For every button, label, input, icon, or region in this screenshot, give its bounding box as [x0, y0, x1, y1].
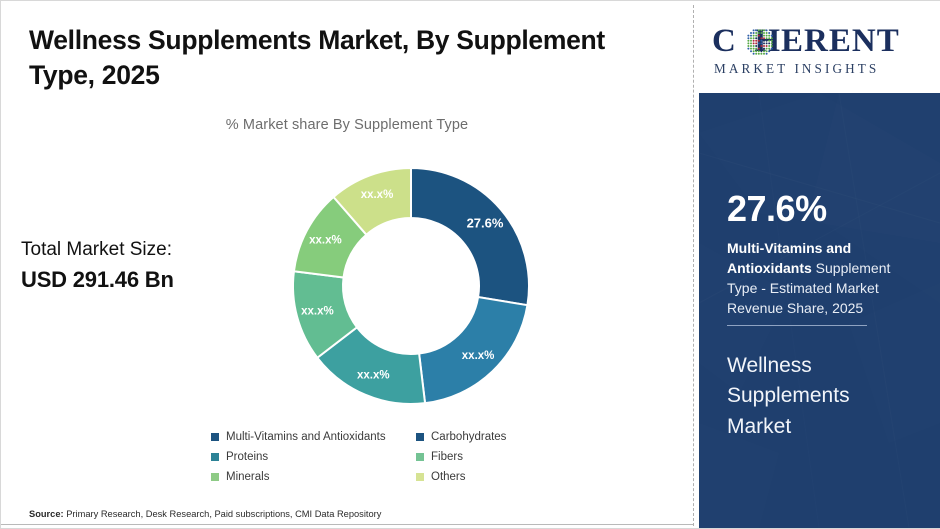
donut-slice-label: xx.x% — [309, 234, 342, 246]
source-label: Source: — [29, 509, 64, 519]
donut-slice-label: xx.x% — [357, 369, 390, 381]
highlight-description: Multi-Vitamins and Antioxidants Suppleme… — [727, 239, 923, 319]
legend-label: Multi-Vitamins and Antioxidants — [226, 431, 386, 443]
globe-dots-icon — [745, 27, 775, 57]
donut-slice-label: xx.x% — [462, 350, 495, 362]
logo-tagline: MARKET INSIGHTS — [714, 61, 879, 77]
source-divider — [1, 524, 693, 525]
legend-item[interactable]: Minerals — [211, 471, 416, 483]
highlight-bold-1: Multi-Vitamins and — [727, 240, 851, 256]
highlight-percent: 27.6% — [727, 191, 923, 227]
highlight-divider — [727, 325, 867, 326]
donut-slice-label: 27.6% — [467, 216, 504, 231]
logo: CoHERENT MARKET INSIGHTS — [698, 1, 940, 93]
total-market-size-label: Total Market Size: — [21, 236, 251, 264]
chart-legend: Multi-Vitamins and AntioxidantsCarbohydr… — [211, 431, 531, 483]
donut-slices — [293, 168, 529, 404]
donut-chart-svg: 27.6%xx.x%xx.x%xx.x%xx.x%xx.x% — [289, 164, 533, 408]
legend-swatch-icon — [211, 433, 219, 441]
total-market-size-value: USD 291.46 Bn — [21, 264, 251, 296]
donut-slice — [411, 168, 529, 305]
total-market-size-block: Total Market Size: USD 291.46 Bn — [21, 236, 251, 295]
legend-item[interactable]: Carbohydrates — [416, 431, 531, 443]
market-name: Wellness Supplements Market — [727, 351, 917, 442]
legend-item[interactable]: Proteins — [211, 451, 416, 463]
logo-wordmark: CoHERENT — [712, 23, 900, 60]
brand-panel: CoHERENT MARKET INSIGHTS 27.6% Multi-Vit… — [698, 1, 940, 528]
chart-panel: Wellness Supplements Market, By Suppleme… — [1, 1, 693, 528]
panel-divider — [693, 5, 694, 526]
legend-swatch-icon — [416, 433, 424, 441]
legend-item[interactable]: Fibers — [416, 451, 531, 463]
legend-label: Fibers — [431, 451, 463, 463]
legend-item[interactable]: Others — [416, 471, 531, 483]
infographic-slide: Wellness Supplements Market, By Suppleme… — [0, 0, 940, 529]
logo-word-before: C — [712, 23, 737, 59]
highlight-panel: 27.6% Multi-Vitamins and Antioxidants Su… — [699, 93, 940, 528]
donut-slice-label: xx.x% — [301, 305, 334, 317]
highlight-bold-2: Antioxidants — [727, 260, 812, 276]
source-text: Primary Research, Desk Research, Paid su… — [64, 509, 382, 519]
highlight-stat: 27.6% Multi-Vitamins and Antioxidants Su… — [727, 191, 923, 319]
legend-swatch-icon — [211, 453, 219, 461]
legend-item[interactable]: Multi-Vitamins and Antioxidants — [211, 431, 416, 443]
legend-swatch-icon — [416, 453, 424, 461]
legend-label: Proteins — [226, 451, 268, 463]
legend-label: Minerals — [226, 471, 269, 483]
legend-label: Carbohydrates — [431, 431, 506, 443]
legend-swatch-icon — [416, 473, 424, 481]
source-note: Source: Primary Research, Desk Research,… — [29, 509, 381, 519]
donut-slice-label: xx.x% — [361, 189, 394, 201]
chart-subtitle: % Market share By Supplement Type — [1, 117, 693, 133]
page-title: Wellness Supplements Market, By Suppleme… — [29, 23, 649, 93]
logo-word-after: HERENT — [754, 23, 899, 59]
donut-chart: 27.6%xx.x%xx.x%xx.x%xx.x%xx.x% — [289, 164, 533, 408]
legend-label: Others — [431, 471, 466, 483]
legend-swatch-icon — [211, 473, 219, 481]
